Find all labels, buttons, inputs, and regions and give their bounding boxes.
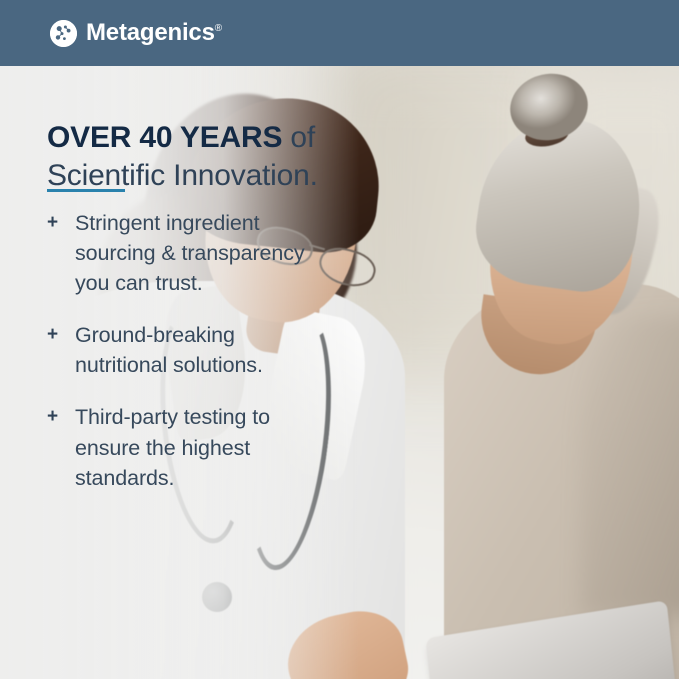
patient-shoulder-shading bbox=[580, 316, 679, 616]
feature-bullet-list: + Stringent ingredient sourcing & transp… bbox=[43, 208, 333, 493]
list-item-label: Stringent ingredient sourcing & transpar… bbox=[75, 208, 327, 298]
headline-connector: of bbox=[282, 121, 315, 154]
brand-logo-group[interactable]: Metagenics® bbox=[50, 20, 222, 47]
accent-divider bbox=[47, 189, 125, 192]
plus-icon: + bbox=[43, 208, 75, 238]
plus-icon: + bbox=[43, 402, 75, 432]
brand-wordmark: Metagenics® bbox=[86, 21, 222, 45]
list-item-label: Ground-breaking nutritional solutions. bbox=[75, 320, 327, 380]
headline-emphasis: OVER 40 YEARS bbox=[47, 121, 282, 154]
brand-wordmark-text: Metagenics bbox=[86, 19, 215, 46]
list-item: + Stringent ingredient sourcing & transp… bbox=[43, 208, 333, 298]
metagenics-molecule-circle-icon bbox=[50, 20, 77, 47]
registered-trademark-mark: ® bbox=[215, 23, 222, 34]
brand-header-bar: Metagenics® bbox=[0, 0, 679, 66]
plus-icon: + bbox=[43, 320, 75, 350]
patient-figure bbox=[430, 66, 679, 679]
list-item: + Ground-breaking nutritional solutions. bbox=[43, 320, 333, 380]
list-item-label: Third-party testing to ensure the highes… bbox=[75, 402, 327, 492]
metagenics-brand-banner: Metagenics® bbox=[0, 0, 679, 679]
page-title: OVER 40 YEARS ofScientific Innovation. bbox=[47, 119, 377, 196]
list-item: + Third-party testing to ensure the high… bbox=[43, 402, 333, 492]
stethoscope-chestpiece bbox=[202, 582, 232, 612]
